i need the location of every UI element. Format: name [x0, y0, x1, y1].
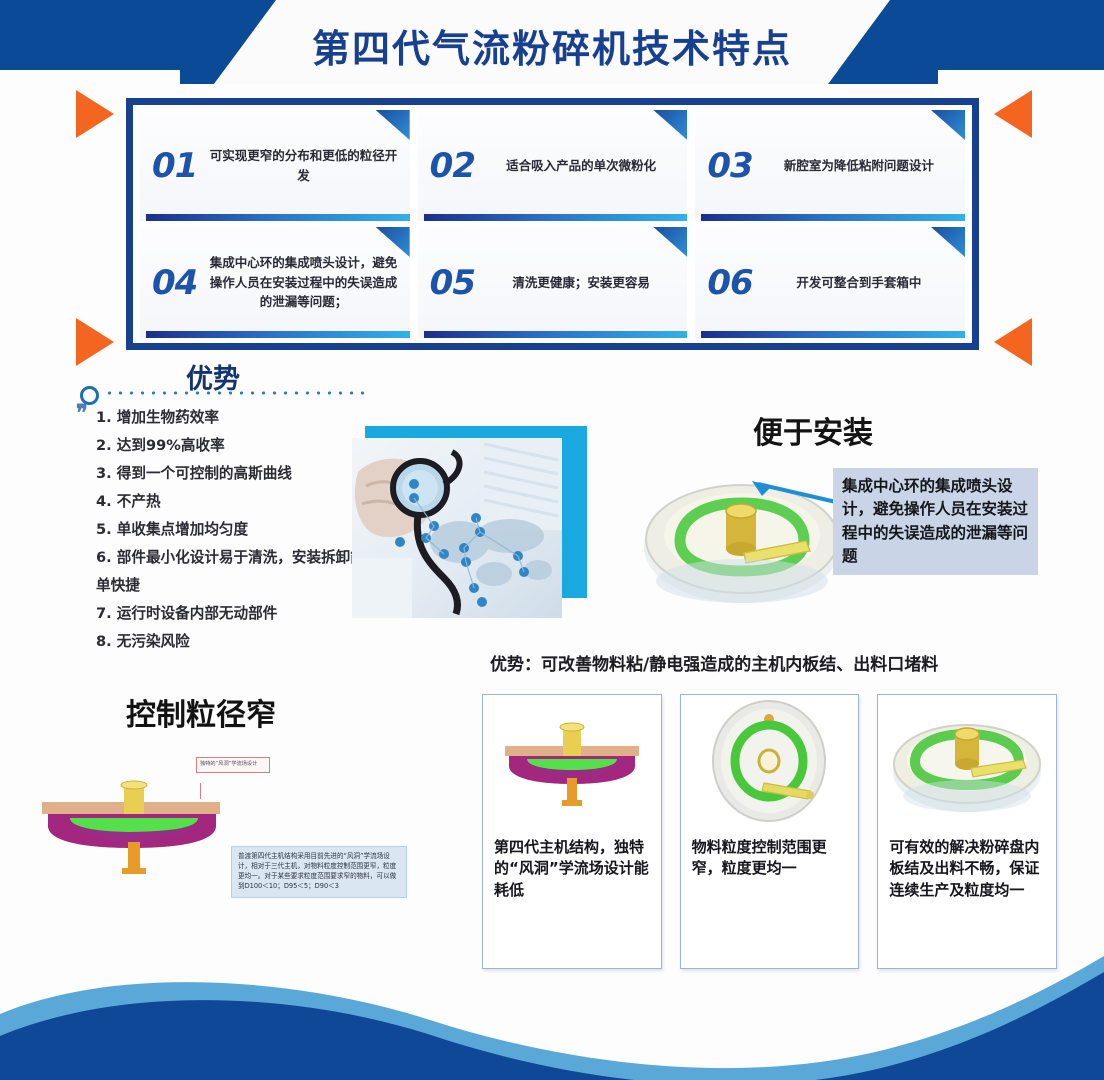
feature-card[interactable]: 03 新腔室为降低粘附问题设计	[695, 110, 965, 221]
crusher-iso-view-image	[878, 695, 1056, 827]
install-heading: 便于安装	[753, 408, 873, 452]
advantage-statement: 优势：可改善物料粘/静电强造成的主机内板结、出料口堵料	[490, 650, 938, 675]
card-corner-icon	[931, 227, 965, 257]
card-accent-bar	[424, 331, 688, 338]
product-card[interactable]: 可有效的解决粉碎盘内板结及出料不畅，保证连续生产及粒度均一	[877, 694, 1057, 969]
feature-number: 02	[430, 146, 475, 186]
card-corner-icon	[931, 110, 965, 140]
list-item: 1. 增加生物药效率	[96, 404, 366, 432]
feature-card[interactable]: 05 清洗更健康；安装更容易	[418, 227, 688, 338]
product-card-text: 可有效的解决粉碎盘内板结及出料不畅，保证连续生产及粒度均一	[878, 827, 1056, 968]
feature-card[interactable]: 02 适合吸入产品的单次微粉化	[418, 110, 688, 221]
crusher-section-illustration	[34, 780, 234, 880]
feature-card[interactable]: 01 可实现更窄的分布和更低的粒径开发	[140, 110, 410, 221]
play-triangle-bottom-right-icon	[994, 318, 1032, 366]
feature-grid: 01 可实现更窄的分布和更低的粒径开发 02 适合吸入产品的单次微粉化 03 新…	[140, 110, 965, 338]
feature-text: 适合吸入产品的单次微粉化	[485, 156, 677, 175]
feature-number: 05	[430, 263, 475, 303]
page-title: 第四代气流粉碎机技术特点	[312, 18, 792, 73]
play-triangle-top-left-icon	[76, 90, 114, 138]
narrow-blue-note: 普渡第四代主机结构采用目前先进的“风洞”学流场设计，相对于三代主机，对物料粒度控…	[231, 846, 407, 898]
product-card-text: 物料粒度控制范围更窄，粒度更均一	[681, 827, 859, 968]
feature-text: 集成中心环的集成喷头设计，避免操作人员在安装过程中的失误造成的泄漏等问题；	[207, 253, 399, 311]
feature-text: 新腔室为降低粘附问题设计	[763, 156, 955, 175]
feature-text: 开发可整合到手套箱中	[763, 273, 955, 292]
wind-tunnel-label: 独特的“风洞”学流场设计	[196, 757, 270, 773]
play-triangle-top-right-icon	[994, 90, 1032, 138]
feature-text: 清洗更健康；安装更容易	[485, 273, 677, 292]
play-triangle-bottom-left-icon	[76, 318, 114, 366]
list-item: 8. 无污染风险	[96, 628, 366, 656]
feature-number: 04	[152, 263, 197, 303]
feature-card[interactable]: 06 开发可整合到手套箱中	[695, 227, 965, 338]
crusher-top-view-image	[681, 695, 859, 827]
quote-mark-icon: ❞	[76, 404, 94, 422]
feature-number: 06	[707, 263, 752, 303]
feature-number: 01	[152, 146, 197, 186]
medical-photo	[352, 438, 562, 618]
card-accent-bar	[424, 214, 688, 221]
bottom-wave-decoration	[0, 950, 1104, 1080]
card-accent-bar	[701, 214, 965, 221]
install-callout: 集成中心环的集成喷头设计，避免操作人员在安装过程中的失误造成的泄漏等问题	[833, 468, 1038, 575]
list-item: 3. 得到一个可控制的高斯曲线	[96, 460, 366, 488]
poster-canvas: 第四代气流粉碎机技术特点 01 可实现更窄的分布和更低的粒径开发 02 适合吸入…	[0, 0, 1104, 1080]
list-item: 4. 不产热	[96, 488, 366, 516]
product-card[interactable]: 物料粒度控制范围更窄，粒度更均一	[680, 694, 860, 969]
feature-card[interactable]: 04 集成中心环的集成喷头设计，避免操作人员在安装过程中的失误造成的泄漏等问题；	[140, 227, 410, 338]
feature-number: 03	[707, 146, 752, 186]
card-corner-icon	[376, 110, 410, 140]
list-item: 7. 运行时设备内部无动部件	[96, 600, 366, 628]
card-accent-bar	[701, 331, 965, 338]
card-corner-icon	[653, 227, 687, 257]
card-accent-bar	[146, 331, 410, 338]
card-corner-icon	[653, 110, 687, 140]
dotted-divider	[104, 391, 368, 395]
product-card-group: 第四代主机结构，独特的“风洞”学流场设计能耗低 物料粒度控制范围更窄，粒度更均一	[482, 694, 1057, 969]
narrow-heading: 控制粒径窄	[126, 690, 276, 734]
advantages-list: 1. 增加生物药效率 2. 达到99%高收率 3. 得到一个可控制的高斯曲线 4…	[96, 404, 366, 656]
list-item: 5. 单收集点增加均匀度	[96, 516, 366, 544]
product-card[interactable]: 第四代主机结构，独特的“风洞”学流场设计能耗低	[482, 694, 662, 969]
list-item: 2. 达到99%高收率	[96, 432, 366, 460]
callout-arrow-icon	[748, 478, 840, 506]
crusher-cross-section-image	[483, 695, 661, 827]
card-accent-bar	[146, 214, 410, 221]
product-card-text: 第四代主机结构，独特的“风洞”学流场设计能耗低	[483, 827, 661, 968]
feature-text: 可实现更窄的分布和更低的粒径开发	[207, 146, 399, 185]
list-item: 6. 部件最小化设计易于清洗，安装拆卸简单快捷	[96, 544, 366, 600]
title-ribbon: 第四代气流粉碎机技术特点	[214, 0, 890, 84]
